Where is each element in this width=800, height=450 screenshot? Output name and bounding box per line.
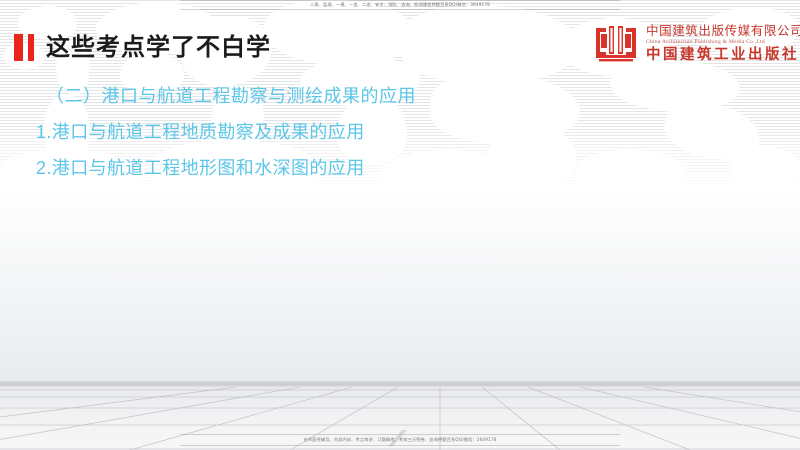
watermark-bottom: 名师面授辅导、内部内训、考点串讲、习题精考、考前三天密卷、咨询押题百系QQ/微信… xyxy=(0,436,800,444)
open-book-logo-icon xyxy=(594,24,638,64)
publisher-company-en: China Architecture Publishing & Media Co… xyxy=(646,40,800,46)
publisher-company-cn: 中国建筑出版传媒有限公司 xyxy=(646,25,800,38)
watermark-rule-top xyxy=(180,9,620,10)
background-wall xyxy=(0,190,800,385)
body-line-heading: （二）港口与航道工程勘察与测绘成果的应用 xyxy=(46,82,416,108)
title-accent-bar-secondary xyxy=(28,34,34,61)
watermark-top: 二建、监理、一建、一造、二造、安全、消防、咨询、检测课程押题百系QQ/微信：36… xyxy=(0,1,800,9)
publisher-press-cn: 中国建筑工业出版社 xyxy=(646,48,800,63)
watermark-rule-bottom xyxy=(180,445,620,446)
title-accent-bar-primary xyxy=(14,34,23,61)
body-line-item-2: 2.港口与航道工程地形图和水深图的应用 xyxy=(36,154,365,180)
publisher-logo-text: 中国建筑出版传媒有限公司 China Architecture Publishi… xyxy=(646,25,800,63)
page-title: 这些考点学了不白学 xyxy=(46,28,271,68)
presentation-slide: 二建、监理、一建、一造、二造、安全、消防、咨询、检测课程押题百系QQ/微信：36… xyxy=(0,0,800,450)
body-line-item-1: 1.港口与航道工程地质勘察及成果的应用 xyxy=(36,118,365,144)
publisher-logo: 中国建筑出版传媒有限公司 China Architecture Publishi… xyxy=(594,24,800,64)
